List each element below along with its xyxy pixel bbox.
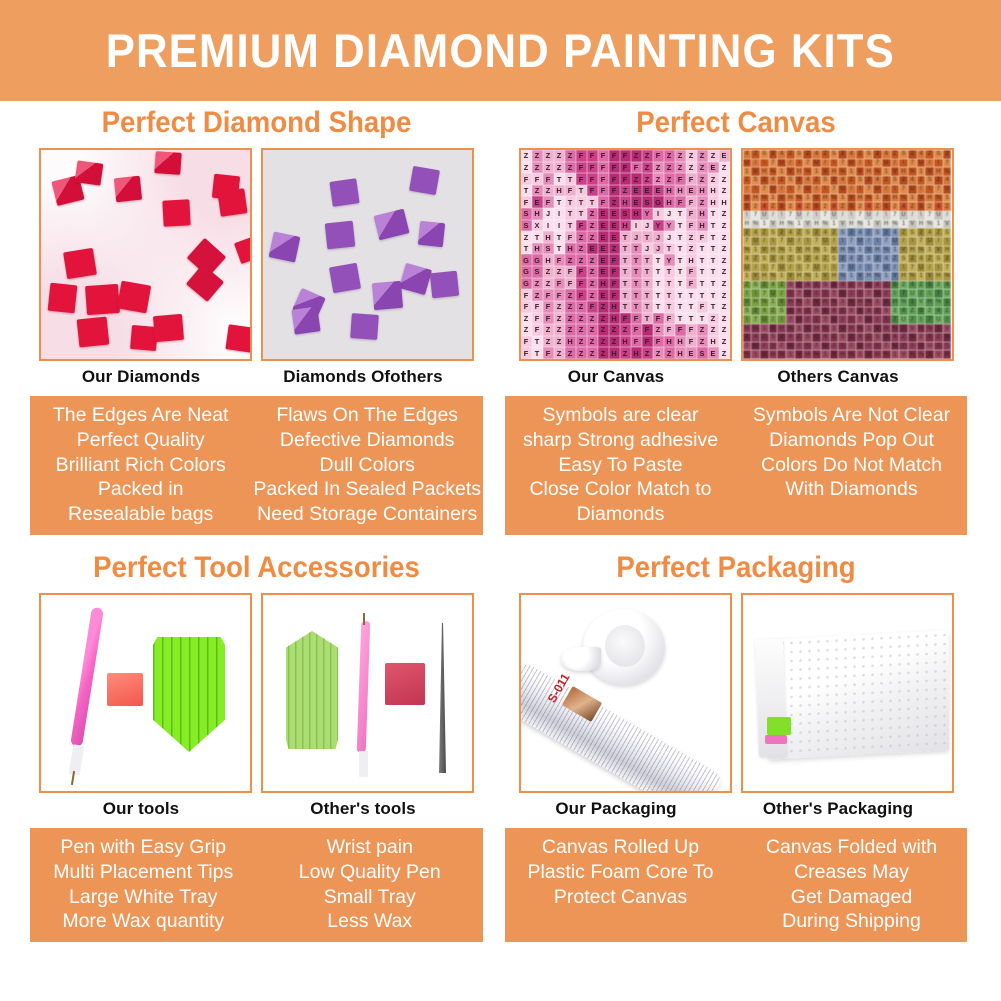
canvas-symbol-cell: 4 <box>821 333 830 342</box>
canvas-symbol-cell: 1 <box>777 167 786 176</box>
canvas-symbol-cell: % <box>830 298 839 307</box>
canvas-symbol-cell: Z <box>719 289 730 301</box>
canvas-symbol-cell: H <box>917 324 926 333</box>
canvas-symbol-cell: \ <box>786 289 795 298</box>
canvas-symbol-cell: / <box>803 211 812 220</box>
caption-other-packaging: Other's Packaging <box>727 799 949 819</box>
canvas-symbol-cell: T <box>697 266 708 278</box>
canvas-symbol-cell: 2 <box>917 333 926 342</box>
canvas-symbol-cell: % <box>873 272 882 281</box>
section-title: Perfect Diamond Shape <box>48 108 465 138</box>
page-banner: PREMIUM DIAMOND PAINTING KITS <box>0 0 1001 101</box>
canvas-symbol-cell: S <box>543 243 554 255</box>
bullet: Close Color Match to <box>507 477 734 502</box>
bullet: More Wax quantity <box>32 909 255 934</box>
canvas-symbol-cell: / <box>830 237 839 246</box>
canvas-symbol-cell: 1 <box>769 194 778 203</box>
symbol-grid-blurry: 4ZS24ZS24ZS24ZS24ZS24ZS2U/\7U/\7U/\7U/\7… <box>743 150 952 359</box>
canvas-symbol-cell: V <box>777 194 786 203</box>
canvas-symbol-cell: U <box>891 342 900 351</box>
canvas-symbol-cell: H <box>821 194 830 203</box>
canvas-symbol-cell: 4 <box>917 150 926 159</box>
canvas-symbol-cell: 2 <box>812 228 821 237</box>
canvas-symbol-cell: Z <box>532 289 543 301</box>
canvas-symbol-cell: U <box>838 289 847 298</box>
canvas-symbol-cell: F <box>609 289 620 301</box>
canvas-symbol-cell: U <box>812 263 821 272</box>
canvas-symbol-cell: F <box>686 324 697 336</box>
canvas-symbol-cell: T <box>664 289 675 301</box>
canvas-symbol-cell: V <box>934 246 943 255</box>
canvas-symbol-cell: S <box>786 176 795 185</box>
canvas-symbol-cell: T <box>697 278 708 290</box>
canvas-symbol-cell: S <box>925 176 934 185</box>
canvas-symbol-cell: V <box>899 350 908 359</box>
canvas-symbol-cell: T <box>708 208 719 220</box>
canvas-symbol-cell: Z <box>708 173 719 185</box>
canvas-symbol-cell: 4 <box>908 176 917 185</box>
canvas-symbol-cell: 4 <box>786 228 795 237</box>
canvas-symbol-cell: \ <box>882 315 891 324</box>
canvas-symbol-cell: F <box>609 150 620 162</box>
canvas-symbol-cell: F <box>554 254 565 266</box>
canvas-symbol-cell: Z <box>812 176 821 185</box>
canvas-symbol-cell: T <box>532 336 543 348</box>
canvas-symbol-cell: S <box>891 281 900 290</box>
bullets-tools: Pen with Easy Grip Multi Placement Tips … <box>30 828 483 942</box>
canvas-symbol-cell: H <box>769 246 778 255</box>
canvas-symbol-cell: H <box>743 324 752 333</box>
canvas-symbol-cell: Z <box>587 336 598 348</box>
canvas-symbol-cell: T <box>576 185 587 197</box>
canvas-symbol-cell: \ <box>760 159 769 168</box>
canvas-symbol-cell: F <box>686 208 697 220</box>
thumbnail-row <box>30 593 483 793</box>
canvas-symbol-cell: F <box>576 266 587 278</box>
canvas-symbol-cell: U <box>795 211 804 220</box>
canvas-symbol-cell: H <box>697 185 708 197</box>
canvas-symbol-cell: % <box>830 194 839 203</box>
canvas-symbol-cell: T <box>664 266 675 278</box>
canvas-symbol-cell: Z <box>891 254 900 263</box>
bullet: Wrist pain <box>259 835 482 860</box>
canvas-symbol-cell: S <box>943 228 952 237</box>
canvas-symbol-cell: % <box>899 194 908 203</box>
canvas-symbol-cell: 2 <box>838 254 847 263</box>
canvas-symbol-cell: Z <box>847 281 856 290</box>
canvas-symbol-cell: 2 <box>786 202 795 211</box>
canvas-symbol-cell: H <box>882 220 891 229</box>
canvas-symbol-cell: F <box>532 301 543 313</box>
canvas-symbol-cell: % <box>812 246 821 255</box>
canvas-symbol-cell: Z <box>653 347 664 359</box>
canvas-symbol-cell: \ <box>873 237 882 246</box>
canvas-symbol-cell: Z <box>587 347 598 359</box>
canvas-symbol-cell: / <box>812 289 821 298</box>
canvas-symbol-cell: 2 <box>803 254 812 263</box>
canvas-symbol-cell: Z <box>554 162 565 174</box>
bullet: Diamonds <box>507 502 734 527</box>
canvas-symbol-cell: Z <box>576 243 587 255</box>
canvas-symbol-cell: 4 <box>743 150 752 159</box>
canvas-symbol-cell: 2 <box>943 150 952 159</box>
canvas-symbol-cell: Z <box>565 313 576 325</box>
canvas-symbol-cell: / <box>838 315 847 324</box>
canvas-symbol-cell: V <box>769 220 778 229</box>
canvas-symbol-cell: F <box>653 313 664 325</box>
canvas-symbol-cell: H <box>856 194 865 203</box>
canvas-symbol-cell: 2 <box>786 307 795 316</box>
canvas-symbol-cell: Z <box>587 266 598 278</box>
canvas-symbol-cell: Z <box>642 347 653 359</box>
canvas-symbol-cell: Z <box>830 228 839 237</box>
canvas-symbol-cell: / <box>760 342 769 351</box>
canvas-symbol-cell: V <box>830 350 839 359</box>
canvas-symbol-cell: F <box>554 278 565 290</box>
canvas-symbol-cell: \ <box>864 263 873 272</box>
canvas-symbol-cell: U <box>760 315 769 324</box>
canvas-symbol-cell: 7 <box>856 315 865 324</box>
canvas-symbol-cell: U <box>795 315 804 324</box>
canvas-symbol-cell: U <box>934 211 943 220</box>
canvas-symbol-cell: / <box>882 185 891 194</box>
canvas-symbol-cell: T <box>620 231 631 243</box>
canvas-symbol-cell: T <box>686 313 697 325</box>
bullet: Creases May <box>738 860 965 885</box>
canvas-symbol-cell: F <box>609 266 620 278</box>
canvas-symbol-cell: V <box>786 167 795 176</box>
canvas-symbol-cell: X <box>532 220 543 232</box>
canvas-symbol-cell: J <box>642 220 653 232</box>
canvas-symbol-cell: 2 <box>873 150 882 159</box>
bullets-theirs: Symbols Are Not Clear Diamonds Pop Out C… <box>736 396 967 535</box>
canvas-symbol-cell: T <box>675 254 686 266</box>
canvas-symbol-cell: % <box>847 350 856 359</box>
canvas-symbol-cell: / <box>899 342 908 351</box>
canvas-symbol-cell: % <box>803 167 812 176</box>
canvas-symbol-cell: Z <box>565 301 576 313</box>
canvas-symbol-cell: Z <box>719 208 730 220</box>
canvas-symbol-cell: Z <box>934 228 943 237</box>
canvas-symbol-cell: F <box>576 278 587 290</box>
canvas-symbol-cell: 7 <box>847 237 856 246</box>
canvas-symbol-cell: F <box>543 289 554 301</box>
canvas-symbol-cell: U <box>751 237 760 246</box>
canvas-symbol-cell: H <box>925 298 934 307</box>
canvas-symbol-cell: Z <box>653 173 664 185</box>
canvas-symbol-cell: Z <box>925 150 934 159</box>
image-others-canvas: 4ZS24ZS24ZS24ZS24ZS24ZS2U/\7U/\7U/\7U/\7… <box>741 148 954 361</box>
bullet: Less Wax <box>259 909 482 934</box>
canvas-symbol-cell: / <box>917 185 926 194</box>
canvas-symbol-cell: 1 <box>812 272 821 281</box>
canvas-symbol-cell: \ <box>925 185 934 194</box>
canvas-symbol-cell: H <box>631 347 642 359</box>
canvas-symbol-cell: 2 <box>917 228 926 237</box>
canvas-symbol-cell: 7 <box>917 237 926 246</box>
canvas-symbol-cell: 2 <box>943 254 952 263</box>
canvas-symbol-cell: 4 <box>838 281 847 290</box>
canvas-symbol-cell: \ <box>812 211 821 220</box>
canvas-symbol-cell: \ <box>873 342 882 351</box>
canvas-symbol-cell: 1 <box>882 272 891 281</box>
canvas-symbol-cell: Z <box>864 228 873 237</box>
canvas-symbol-cell: H <box>565 336 576 348</box>
canvas-symbol-cell: T <box>697 313 708 325</box>
canvas-symbol-cell: T <box>620 243 631 255</box>
canvas-symbol-cell: 7 <box>925 211 934 220</box>
canvas-symbol-cell: U <box>812 159 821 168</box>
canvas-symbol-cell: U <box>777 159 786 168</box>
canvas-symbol-cell: F <box>576 150 587 162</box>
canvas-symbol-cell: S <box>760 254 769 263</box>
canvas-symbol-cell: 1 <box>908 298 917 307</box>
canvas-symbol-cell: H <box>760 167 769 176</box>
canvas-symbol-cell: V <box>838 324 847 333</box>
canvas-symbol-cell: Z <box>697 162 708 174</box>
canvas-symbol-cell: / <box>743 289 752 298</box>
canvas-symbol-cell: \ <box>847 211 856 220</box>
bullets-theirs: Flaws On The Edges Defective Diamonds Du… <box>251 396 483 535</box>
canvas-symbol-cell: Z <box>864 333 873 342</box>
canvas-symbol-cell: / <box>777 289 786 298</box>
canvas-symbol-cell: 4 <box>760 202 769 211</box>
canvas-symbol-cell: S <box>882 307 891 316</box>
canvas-symbol-cell: Z <box>899 228 908 237</box>
canvas-symbol-cell: U <box>830 211 839 220</box>
canvas-symbol-cell: S <box>521 208 532 220</box>
canvas-symbol-cell: H <box>786 194 795 203</box>
canvas-symbol-cell: / <box>786 263 795 272</box>
canvas-symbol-cell: Z <box>719 313 730 325</box>
canvas-symbol-cell: % <box>821 220 830 229</box>
canvas-symbol-cell: H <box>891 298 900 307</box>
canvas-symbol-cell: 2 <box>751 307 760 316</box>
canvas-symbol-cell: Z <box>576 313 587 325</box>
canvas-symbol-cell: 7 <box>882 237 891 246</box>
canvas-symbol-cell: T <box>708 220 719 232</box>
canvas-symbol-cell: Z <box>653 162 664 174</box>
canvas-symbol-cell: % <box>873 167 882 176</box>
canvas-symbol-cell: Z <box>719 347 730 359</box>
canvas-symbol-cell: F <box>521 289 532 301</box>
canvas-symbol-cell: 2 <box>769 150 778 159</box>
canvas-symbol-cell: H <box>847 220 856 229</box>
image-other-diamonds <box>261 148 474 361</box>
canvas-symbol-cell: Z <box>587 208 598 220</box>
canvas-symbol-cell: S <box>830 150 839 159</box>
canvas-symbol-cell: S <box>838 333 847 342</box>
canvas-symbol-cell: T <box>708 301 719 313</box>
canvas-symbol-cell: Z <box>521 162 532 174</box>
canvas-symbol-cell: Z <box>719 266 730 278</box>
canvas-symbol-cell: H <box>821 298 830 307</box>
canvas-symbol-cell: J <box>664 231 675 243</box>
canvas-symbol-cell: / <box>943 211 952 220</box>
canvas-symbol-cell: U <box>786 237 795 246</box>
bullets-theirs: Canvas Folded with Creases May Get Damag… <box>736 828 967 942</box>
canvas-symbol-cell: % <box>760 298 769 307</box>
canvas-symbol-cell: U <box>917 159 926 168</box>
canvas-symbol-cell: T <box>620 301 631 313</box>
canvas-symbol-cell: Z <box>565 347 576 359</box>
canvas-symbol-cell: 1 <box>821 246 830 255</box>
canvas-symbol-cell: \ <box>891 289 900 298</box>
canvas-symbol-cell: 1 <box>943 298 952 307</box>
canvas-symbol-cell: / <box>917 289 926 298</box>
canvas-symbol-cell: V <box>743 194 752 203</box>
canvas-symbol-cell: H <box>812 324 821 333</box>
canvas-symbol-cell: 2 <box>830 176 839 185</box>
canvas-symbol-cell: 2 <box>856 307 865 316</box>
canvas-symbol-cell: H <box>708 336 719 348</box>
canvas-symbol-cell: \ <box>908 237 917 246</box>
canvas-symbol-cell: H <box>873 350 882 359</box>
canvas-symbol-cell: T <box>675 231 686 243</box>
caption-our-packaging: Our Packaging <box>505 799 727 819</box>
bullet: Multi Placement Tips <box>32 860 255 885</box>
canvas-symbol-cell: H <box>532 208 543 220</box>
canvas-symbol-cell: U <box>899 315 908 324</box>
canvas-symbol-cell: / <box>838 211 847 220</box>
canvas-symbol-cell: H <box>925 194 934 203</box>
canvas-symbol-cell: U <box>864 211 873 220</box>
canvas-symbol-cell: H <box>751 298 760 307</box>
canvas-symbol-cell: Z <box>751 150 760 159</box>
canvas-symbol-cell: / <box>847 289 856 298</box>
canvas-symbol-cell: G <box>521 278 532 290</box>
canvas-symbol-cell: E <box>609 208 620 220</box>
bullet: Symbols are clear <box>507 403 734 428</box>
canvas-symbol-cell: U <box>925 342 934 351</box>
canvas-symbol-cell: U <box>908 185 917 194</box>
canvas-symbol-cell: Z <box>609 243 620 255</box>
canvas-symbol-cell: H <box>620 336 631 348</box>
canvas-symbol-cell: / <box>821 263 830 272</box>
canvas-symbol-cell: T <box>664 243 675 255</box>
canvas-symbol-cell: 4 <box>943 176 952 185</box>
canvas-symbol-cell: % <box>934 194 943 203</box>
canvas-symbol-cell: / <box>864 342 873 351</box>
canvas-symbol-cell: V <box>803 324 812 333</box>
canvas-symbol-cell: F <box>686 266 697 278</box>
canvas-symbol-cell: Z <box>664 173 675 185</box>
canvas-symbol-cell: / <box>908 211 917 220</box>
canvas-symbol-cell: U <box>943 289 952 298</box>
canvas-symbol-cell: V <box>821 167 830 176</box>
canvas-symbol-cell: Z <box>751 254 760 263</box>
canvas-symbol-cell: Z <box>664 150 675 162</box>
canvas-symbol-cell: Z <box>934 333 943 342</box>
canvas-symbol-cell: S <box>760 150 769 159</box>
section-title: Perfect Tool Accessories <box>48 553 465 583</box>
canvas-symbol-cell: % <box>769 167 778 176</box>
canvas-symbol-cell: Z <box>719 336 730 348</box>
canvas-symbol-cell: 2 <box>821 307 830 316</box>
canvas-symbol-cell: Z <box>786 254 795 263</box>
canvas-symbol-cell: 4 <box>777 150 786 159</box>
canvas-symbol-cell: / <box>899 237 908 246</box>
canvas-symbol-cell: H <box>873 246 882 255</box>
canvas-symbol-cell: V <box>925 167 934 176</box>
canvas-symbol-cell: \ <box>899 159 908 168</box>
canvas-symbol-cell: T <box>664 278 675 290</box>
canvas-symbol-cell: 1 <box>786 246 795 255</box>
canvas-symbol-cell: H <box>664 196 675 208</box>
thumbnail-row <box>30 148 483 361</box>
canvas-symbol-cell: U <box>934 315 943 324</box>
canvas-symbol-cell: 1 <box>760 324 769 333</box>
canvas-symbol-cell: Z <box>609 196 620 208</box>
caption-row: Our Diamonds Diamonds Ofothers <box>30 367 483 387</box>
canvas-symbol-cell: \ <box>899 263 908 272</box>
canvas-symbol-cell: Z <box>891 150 900 159</box>
canvas-symbol-cell: H <box>812 220 821 229</box>
bullet: Protect Canvas <box>507 885 734 910</box>
canvas-symbol-cell: 7 <box>891 211 900 220</box>
canvas-symbol-cell: F <box>664 324 675 336</box>
canvas-symbol-cell: T <box>653 289 664 301</box>
canvas-symbol-cell: 2 <box>899 281 908 290</box>
canvas-symbol-cell: 7 <box>908 263 917 272</box>
canvas-symbol-cell: \ <box>795 263 804 272</box>
canvas-symbol-cell: Z <box>795 228 804 237</box>
canvas-symbol-cell: 1 <box>751 350 760 359</box>
canvas-symbol-cell: Z <box>697 336 708 348</box>
section-packaging: Perfect Packaging S-011 <box>505 553 967 942</box>
canvas-symbol-cell: 4 <box>803 281 812 290</box>
canvas-symbol-cell: V <box>882 298 891 307</box>
canvas-symbol-cell: V <box>812 298 821 307</box>
canvas-symbol-cell: H <box>838 350 847 359</box>
caption-our-tools: Our tools <box>30 799 252 819</box>
canvas-symbol-cell: T <box>675 289 686 301</box>
canvas-symbol-cell: Z <box>925 254 934 263</box>
canvas-symbol-cell: T <box>554 243 565 255</box>
canvas-symbol-cell: Z <box>554 150 565 162</box>
canvas-symbol-cell: S <box>620 208 631 220</box>
canvas-symbol-cell: 7 <box>812 237 821 246</box>
canvas-symbol-cell: % <box>934 298 943 307</box>
canvas-symbol-cell: Z <box>543 278 554 290</box>
canvas-symbol-cell: % <box>803 272 812 281</box>
canvas-symbol-cell: 4 <box>830 202 839 211</box>
canvas-symbol-cell: I <box>631 220 642 232</box>
canvas-symbol-cell: % <box>838 167 847 176</box>
canvas-symbol-cell: / <box>751 159 760 168</box>
canvas-symbol-cell: \ <box>864 159 873 168</box>
canvas-symbol-cell: H <box>856 298 865 307</box>
canvas-symbol-cell: S <box>864 254 873 263</box>
canvas-symbol-cell: U <box>864 315 873 324</box>
canvas-symbol-cell: F <box>697 231 708 243</box>
canvas-symbol-cell: 1 <box>934 220 943 229</box>
canvas-symbol-cell: 7 <box>786 315 795 324</box>
canvas-symbol-cell: F <box>653 336 664 348</box>
canvas-symbol-cell: Z <box>664 347 675 359</box>
canvas-symbol-cell: 7 <box>795 289 804 298</box>
canvas-symbol-cell: U <box>925 237 934 246</box>
canvas-symbol-cell: F <box>598 150 609 162</box>
canvas-symbol-cell: T <box>708 243 719 255</box>
canvas-symbol-cell: H <box>719 196 730 208</box>
canvas-symbol-cell: 1 <box>856 350 865 359</box>
canvas-symbol-cell: 4 <box>943 281 952 290</box>
canvas-symbol-cell: H <box>803 246 812 255</box>
canvas-symbol-cell: F <box>532 324 543 336</box>
canvas-symbol-cell: V <box>743 298 752 307</box>
canvas-symbol-cell: T <box>620 278 631 290</box>
